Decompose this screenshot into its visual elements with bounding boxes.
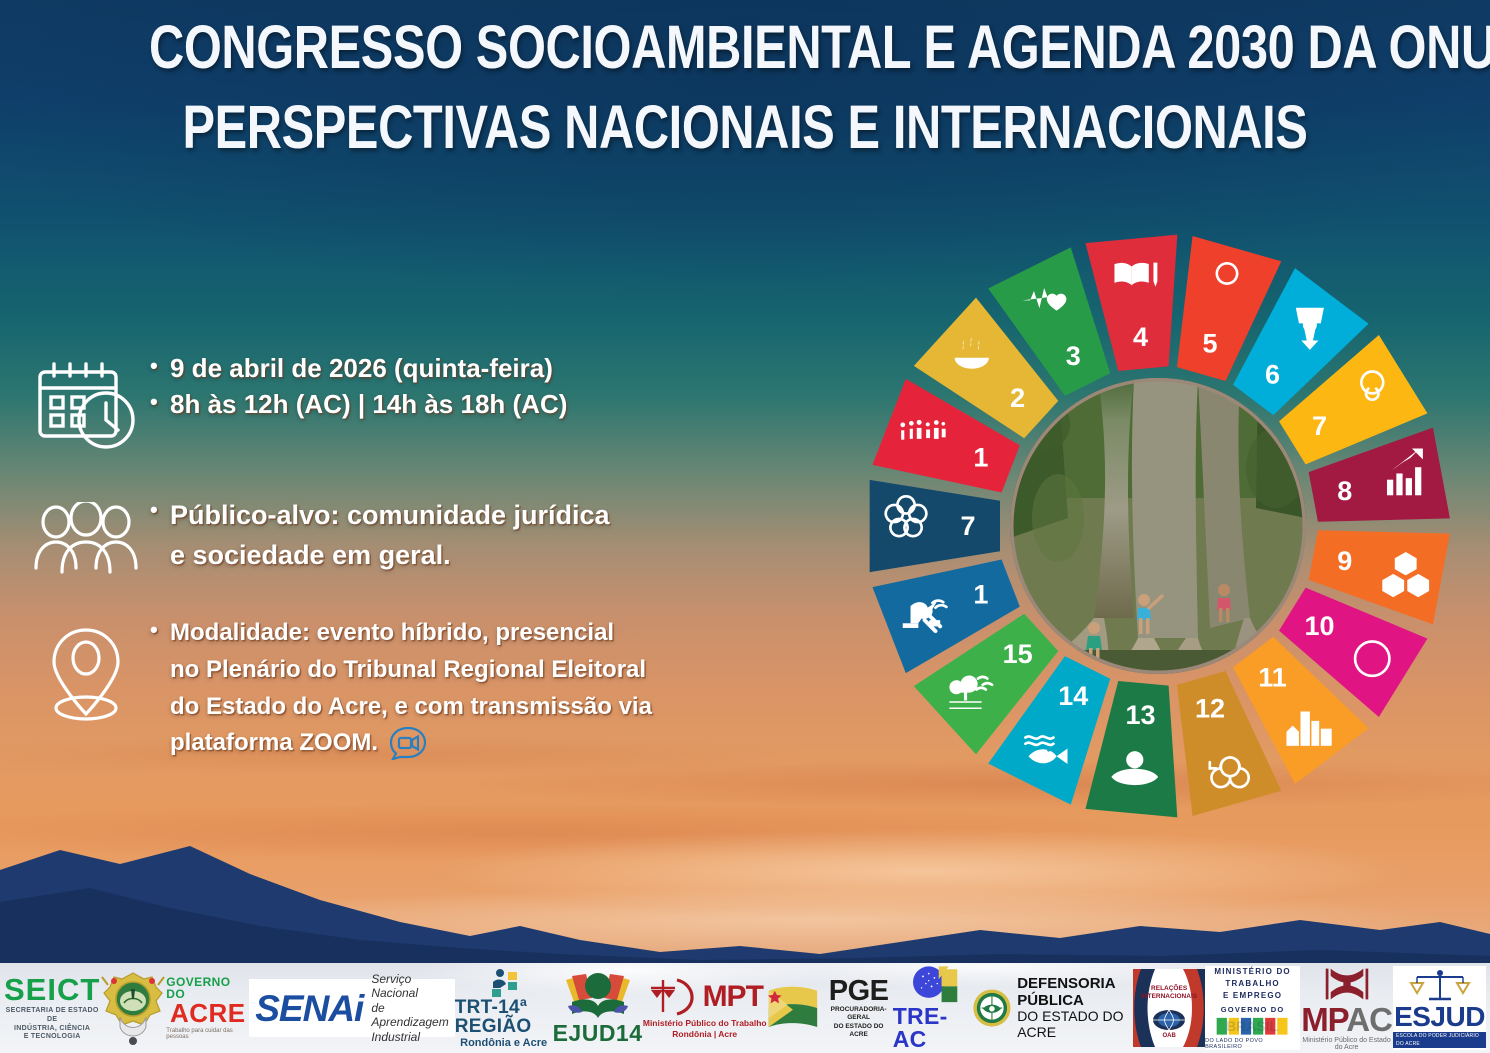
- modality-value-4: plataforma ZOOM.: [170, 726, 378, 761]
- senai-subtitle: Serviço Nacional de Aprendizagem Industr…: [371, 972, 448, 1044]
- modality-line-4: plataforma ZOOM.: [150, 726, 812, 771]
- sdg-segment-number-7: 7: [1312, 411, 1327, 441]
- bullet-dot: •: [150, 616, 170, 644]
- ejud-title: EJUD14: [553, 1022, 643, 1045]
- detail-row-modality: • Modalidade: evento híbrido, presencial…: [22, 616, 812, 773]
- date-line: • 9 de abril de 2026 (quinta-feira): [150, 352, 812, 386]
- sdg-segment-number-11: 11: [1258, 663, 1287, 693]
- event-poster: CONGRESSO SOCIOAMBIENTAL E AGENDA 2030 D…: [0, 0, 1490, 1053]
- svg-text:BRASIL: BRASIL: [1226, 1017, 1278, 1033]
- people-icon: [22, 496, 150, 578]
- gov-acre-line-2: ACRE: [170, 1000, 246, 1026]
- sdg-wheel: 12345678910111213141517: [858, 218, 1458, 834]
- mpt-subtitle: Ministério Público do Trabalho Rondônia …: [643, 1018, 767, 1039]
- mte-line-4: GOVERNO DO: [1221, 1005, 1285, 1016]
- gov-acre-tagline: Trabalho para cuidar das pessoas: [166, 1028, 249, 1040]
- modality-line-3: do Estado do Acre, e com transmissão via: [150, 690, 812, 725]
- pge-subtitle: PROCURADORIA-GERAL DO ESTADO DO ACRE: [825, 1006, 893, 1039]
- logo-acre-coat-of-arms[interactable]: [100, 965, 166, 1051]
- sdg-segment-number-17: 7: [960, 511, 975, 541]
- sdg-segment-number-15: 15: [1003, 639, 1033, 669]
- detail-row-datetime: • 9 de abril de 2026 (quinta-feira) • 8h…: [22, 352, 812, 454]
- sponsor-footer: SEICT SECRETARIA DE ESTADO DE INDÚSTRIA,…: [0, 963, 1490, 1053]
- modality-value-1: Modalidade: evento híbrido, presencial: [170, 616, 614, 651]
- trt-title: TRT-14ª REGIÃO: [455, 998, 553, 1036]
- mpac-symbol-icon: [1315, 965, 1379, 1003]
- logo-defensoria-publica[interactable]: DEFENSORIA PÚBLICA DO ESTADO DO ACRE: [972, 965, 1133, 1051]
- pge-title: PGE: [829, 977, 889, 1006]
- tre-brasil-icon: [897, 965, 969, 1005]
- audience-value-2: e sociedade em geral.: [170, 536, 451, 574]
- bullet-dot: •: [150, 388, 170, 416]
- location-pin-icon: [22, 616, 150, 728]
- trt-subtitle: Rondônia e Acre: [460, 1038, 547, 1049]
- logo-ministerio-trabalho-brasil[interactable]: MINISTÉRIO DO TRABALHO E EMPREGO GOVERNO…: [1205, 965, 1300, 1051]
- mountain-silhouette: [0, 830, 1490, 968]
- mpac-title-ac: AC: [1346, 1001, 1392, 1038]
- mpac-title-mp: MP: [1301, 1001, 1346, 1038]
- tre-title: TRE-AC: [893, 1005, 973, 1051]
- sdg-segment-number-10: 10: [1305, 611, 1335, 641]
- sdg-segment-number-13: 13: [1125, 700, 1155, 730]
- oab-line-2: INTERNACIONAIS: [1133, 993, 1205, 1001]
- center-photo: [1002, 378, 1306, 680]
- defensoria-line-2: DO ESTADO DO ACRE: [1017, 1009, 1133, 1040]
- mte-line-3: E EMPREGO: [1223, 990, 1282, 1002]
- defensoria-line-1: DEFENSORIA PÚBLICA: [1017, 976, 1133, 1009]
- mpt-title: MPT: [703, 982, 763, 1012]
- logo-seict[interactable]: SEICT SECRETARIA DE ESTADO DE INDÚSTRIA,…: [4, 965, 100, 1051]
- pge-sub-2: DO ESTADO DO ACRE: [825, 1023, 893, 1039]
- sdg-segment-number-4: 4: [1133, 322, 1148, 352]
- time-line: • 8h às 12h (AC) | 14h às 18h (AC): [150, 388, 812, 422]
- modality-text: • Modalidade: evento híbrido, presencial…: [150, 616, 812, 773]
- sdg-segment-number-16: 1: [973, 580, 988, 610]
- logo-senai[interactable]: SENAi Serviço Nacional de Aprendizagem I…: [249, 965, 454, 1051]
- seict-sub-2: INDÚSTRIA, CIÊNCIA: [4, 1025, 100, 1034]
- oab-mark: OAB: [1133, 1033, 1205, 1039]
- title-line-2: PERSPECTIVAS NACIONAIS E INTERNACIONAIS: [149, 92, 1341, 164]
- mpac-title: MPAC: [1301, 1003, 1392, 1036]
- detail-row-audience: • Público-alvo: comunidade jurídica e so…: [22, 496, 812, 578]
- logo-oab-relacoes-internacionais[interactable]: RELAÇÕES INTERNACIONAIS OAB: [1133, 965, 1205, 1051]
- mte-line-1: MINISTÉRIO DO: [1214, 966, 1291, 978]
- logo-trt14[interactable]: TRT-14ª REGIÃO Rondônia e Acre: [455, 965, 553, 1051]
- modality-value-3: do Estado do Acre, e com transmissão via: [170, 690, 652, 725]
- senai-title: SENAi: [255, 990, 363, 1027]
- coat-of-arms-icon: [100, 969, 166, 1047]
- esjud-title: ESJUD: [1394, 1003, 1485, 1031]
- modality-line-1: • Modalidade: evento híbrido, presencial: [150, 616, 812, 651]
- acre-flag-icon: [767, 980, 821, 1036]
- pge-sub-1: PROCURADORIA-GERAL: [825, 1006, 893, 1022]
- modality-value-2: no Plenário do Tribunal Regional Eleitor…: [170, 653, 646, 688]
- mpt-sub-1: Ministério Público do Trabalho: [643, 1018, 767, 1029]
- esjud-box: ESJUD ESCOLA DO PODER JUDICIÁRIO DO ACRE: [1393, 966, 1486, 1050]
- datetime-text: • 9 de abril de 2026 (quinta-feira) • 8h…: [150, 352, 812, 424]
- sdg-segment-number-6: 6: [1265, 359, 1280, 389]
- defensoria-seal-icon: [972, 979, 1012, 1037]
- seict-sub-1: SECRETARIA DE ESTADO DE: [4, 1007, 100, 1025]
- sdg-segment-number-3: 3: [1066, 341, 1081, 371]
- seict-sub-3: E TECNOLOGIA: [4, 1033, 100, 1042]
- audience-line-2: e sociedade em geral.: [150, 536, 812, 574]
- senai-box: SENAi Serviço Nacional de Aprendizagem I…: [249, 979, 454, 1037]
- sdg-segment-number-9: 9: [1337, 546, 1352, 576]
- oab-box: RELAÇÕES INTERNACIONAIS OAB: [1133, 969, 1205, 1047]
- senai-sub-1: Serviço Nacional: [371, 972, 448, 1001]
- modality-line-2: no Plenário do Tribunal Regional Eleitor…: [150, 653, 812, 688]
- sdg-segment-number-8: 8: [1337, 476, 1352, 506]
- esjud-subtitle: ESCOLA DO PODER JUDICIÁRIO DO ACRE: [1393, 1032, 1486, 1048]
- oab-globe-icon: [1152, 1009, 1186, 1031]
- mte-line-2: TRABALHO: [1225, 978, 1279, 990]
- zoom-logo-icon: [388, 726, 428, 771]
- sdg-segment-number-1: 1: [973, 442, 988, 472]
- seict-title: SEICT: [4, 974, 100, 1005]
- sdg-segment-number-5: 5: [1202, 328, 1217, 358]
- ejud-book-icon: [562, 972, 634, 1022]
- logo-pge[interactable]: PGE PROCURADORIA-GERAL DO ESTADO DO ACRE: [767, 965, 893, 1051]
- calendar-clock-icon: [22, 352, 150, 454]
- senai-sub-2: de Aprendizagem: [371, 1001, 448, 1030]
- mpac-subtitle: Ministério Público do Estado do Acre: [1300, 1037, 1393, 1051]
- date-value: 9 de abril de 2026 (quinta-feira): [170, 352, 553, 386]
- sponsor-logos: SEICT SECRETARIA DE ESTADO DE INDÚSTRIA,…: [0, 963, 1490, 1053]
- gov-acre-line-1: GOVERNO DO: [166, 976, 249, 1000]
- oab-line-1: RELAÇÕES: [1133, 985, 1205, 993]
- time-value: 8h às 12h (AC) | 14h às 18h (AC): [170, 388, 567, 422]
- logo-governo-acre[interactable]: GOVERNO DO ACRE Trabalho para cuidar das…: [166, 965, 249, 1051]
- scales-of-justice-icon: [1409, 969, 1471, 1003]
- senai-sub-3: Industrial: [371, 1030, 448, 1044]
- logo-esjud[interactable]: ESJUD ESCOLA DO PODER JUDICIÁRIO DO ACRE: [1393, 965, 1486, 1051]
- page-title: CONGRESSO SOCIOAMBIENTAL E AGENDA 2030 D…: [149, 12, 1341, 164]
- brasil-wordmark-icon: BRASIL: [1214, 1016, 1292, 1037]
- audience-line-1: • Público-alvo: comunidade jurídica: [150, 496, 812, 534]
- seict-subtitle: SECRETARIA DE ESTADO DE INDÚSTRIA, CIÊNC…: [4, 1007, 100, 1042]
- logo-ejud14[interactable]: EJUD14: [553, 965, 643, 1051]
- sdg-segment-number-12: 12: [1195, 694, 1225, 724]
- trt-figure-icon: [487, 968, 521, 998]
- logo-mpac[interactable]: MPAC Ministério Público do Estado do Acr…: [1300, 965, 1393, 1051]
- audience-value-1: Público-alvo: comunidade jurídica: [170, 496, 610, 534]
- bullet-dot: •: [150, 496, 170, 524]
- mte-line-6: DO LADO DO POVO BRASILEIRO: [1205, 1038, 1300, 1050]
- oab-label: RELAÇÕES INTERNACIONAIS: [1133, 985, 1205, 1001]
- logo-tre-ac[interactable]: TRE-AC: [893, 965, 973, 1051]
- title-line-1: CONGRESSO SOCIOAMBIENTAL E AGENDA 2030 D…: [149, 12, 1341, 84]
- bullet-dot: •: [150, 352, 170, 380]
- mte-box: MINISTÉRIO DO TRABALHO E EMPREGO GOVERNO…: [1205, 966, 1300, 1050]
- mpt-sub-2: Rondônia | Acre: [643, 1029, 767, 1040]
- sdg-segment-number-2: 2: [1010, 383, 1025, 413]
- sdg-wheel-svg: 12345678910111213141517: [858, 218, 1458, 834]
- event-details: • 9 de abril de 2026 (quinta-feira) • 8h…: [22, 352, 812, 779]
- mpt-symbol-icon: [647, 976, 703, 1018]
- audience-text: • Público-alvo: comunidade jurídica e so…: [150, 496, 812, 577]
- sdg-segment-number-14: 14: [1058, 681, 1088, 711]
- logo-mpt[interactable]: MPT Ministério Público do Trabalho Rondô…: [643, 965, 767, 1051]
